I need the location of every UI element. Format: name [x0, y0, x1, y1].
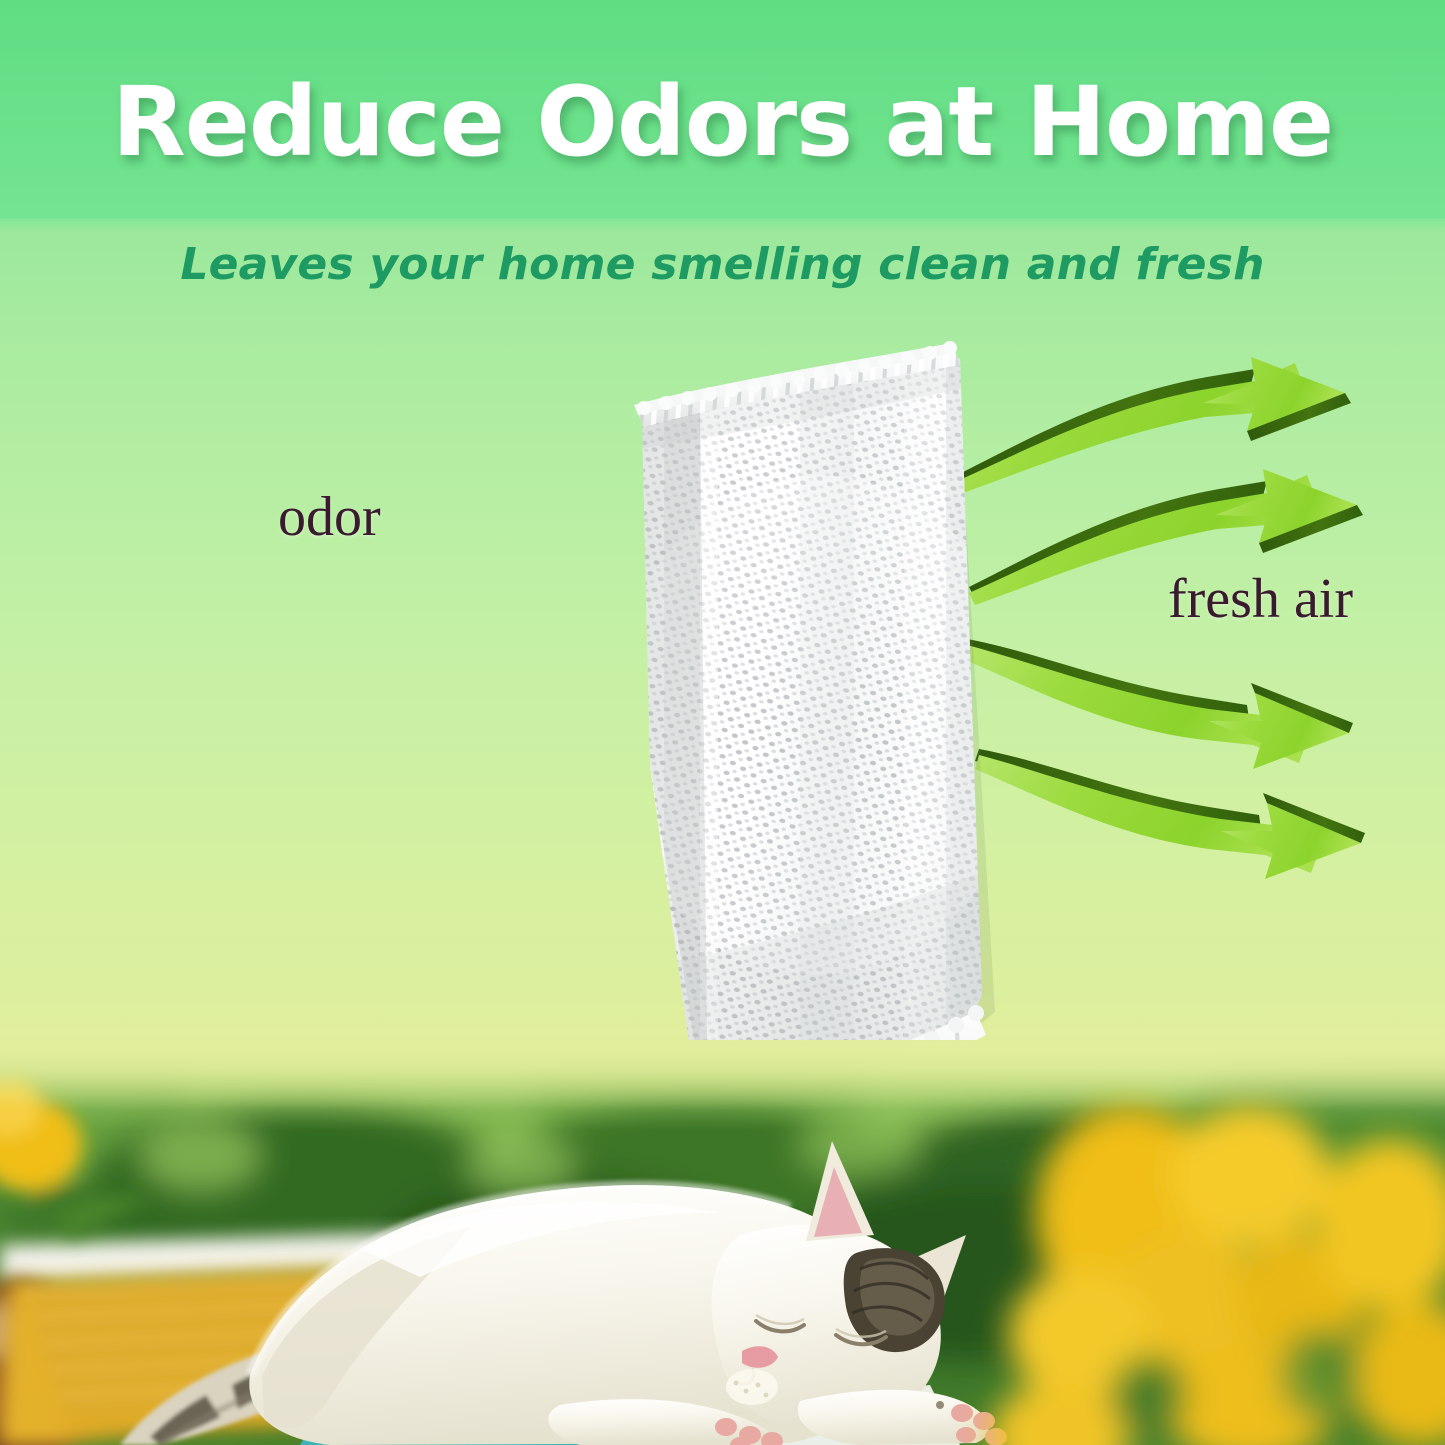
product-infographic: Reduce Odors at Home Leaves your home sm…	[0, 0, 1445, 1445]
arrow-4	[975, 749, 1365, 879]
fresh-air-label: fresh air	[1168, 571, 1353, 627]
yellow-flowers	[990, 1105, 1445, 1445]
page-title: Reduce Odors at Home	[0, 74, 1445, 170]
page-subtitle: Leaves your home smelling clean and fres…	[0, 243, 1445, 287]
charcoal-mesh-bag	[604, 335, 1024, 1135]
sleeping-cat-photo	[0, 1045, 1445, 1445]
odor-label: odor	[278, 489, 381, 545]
